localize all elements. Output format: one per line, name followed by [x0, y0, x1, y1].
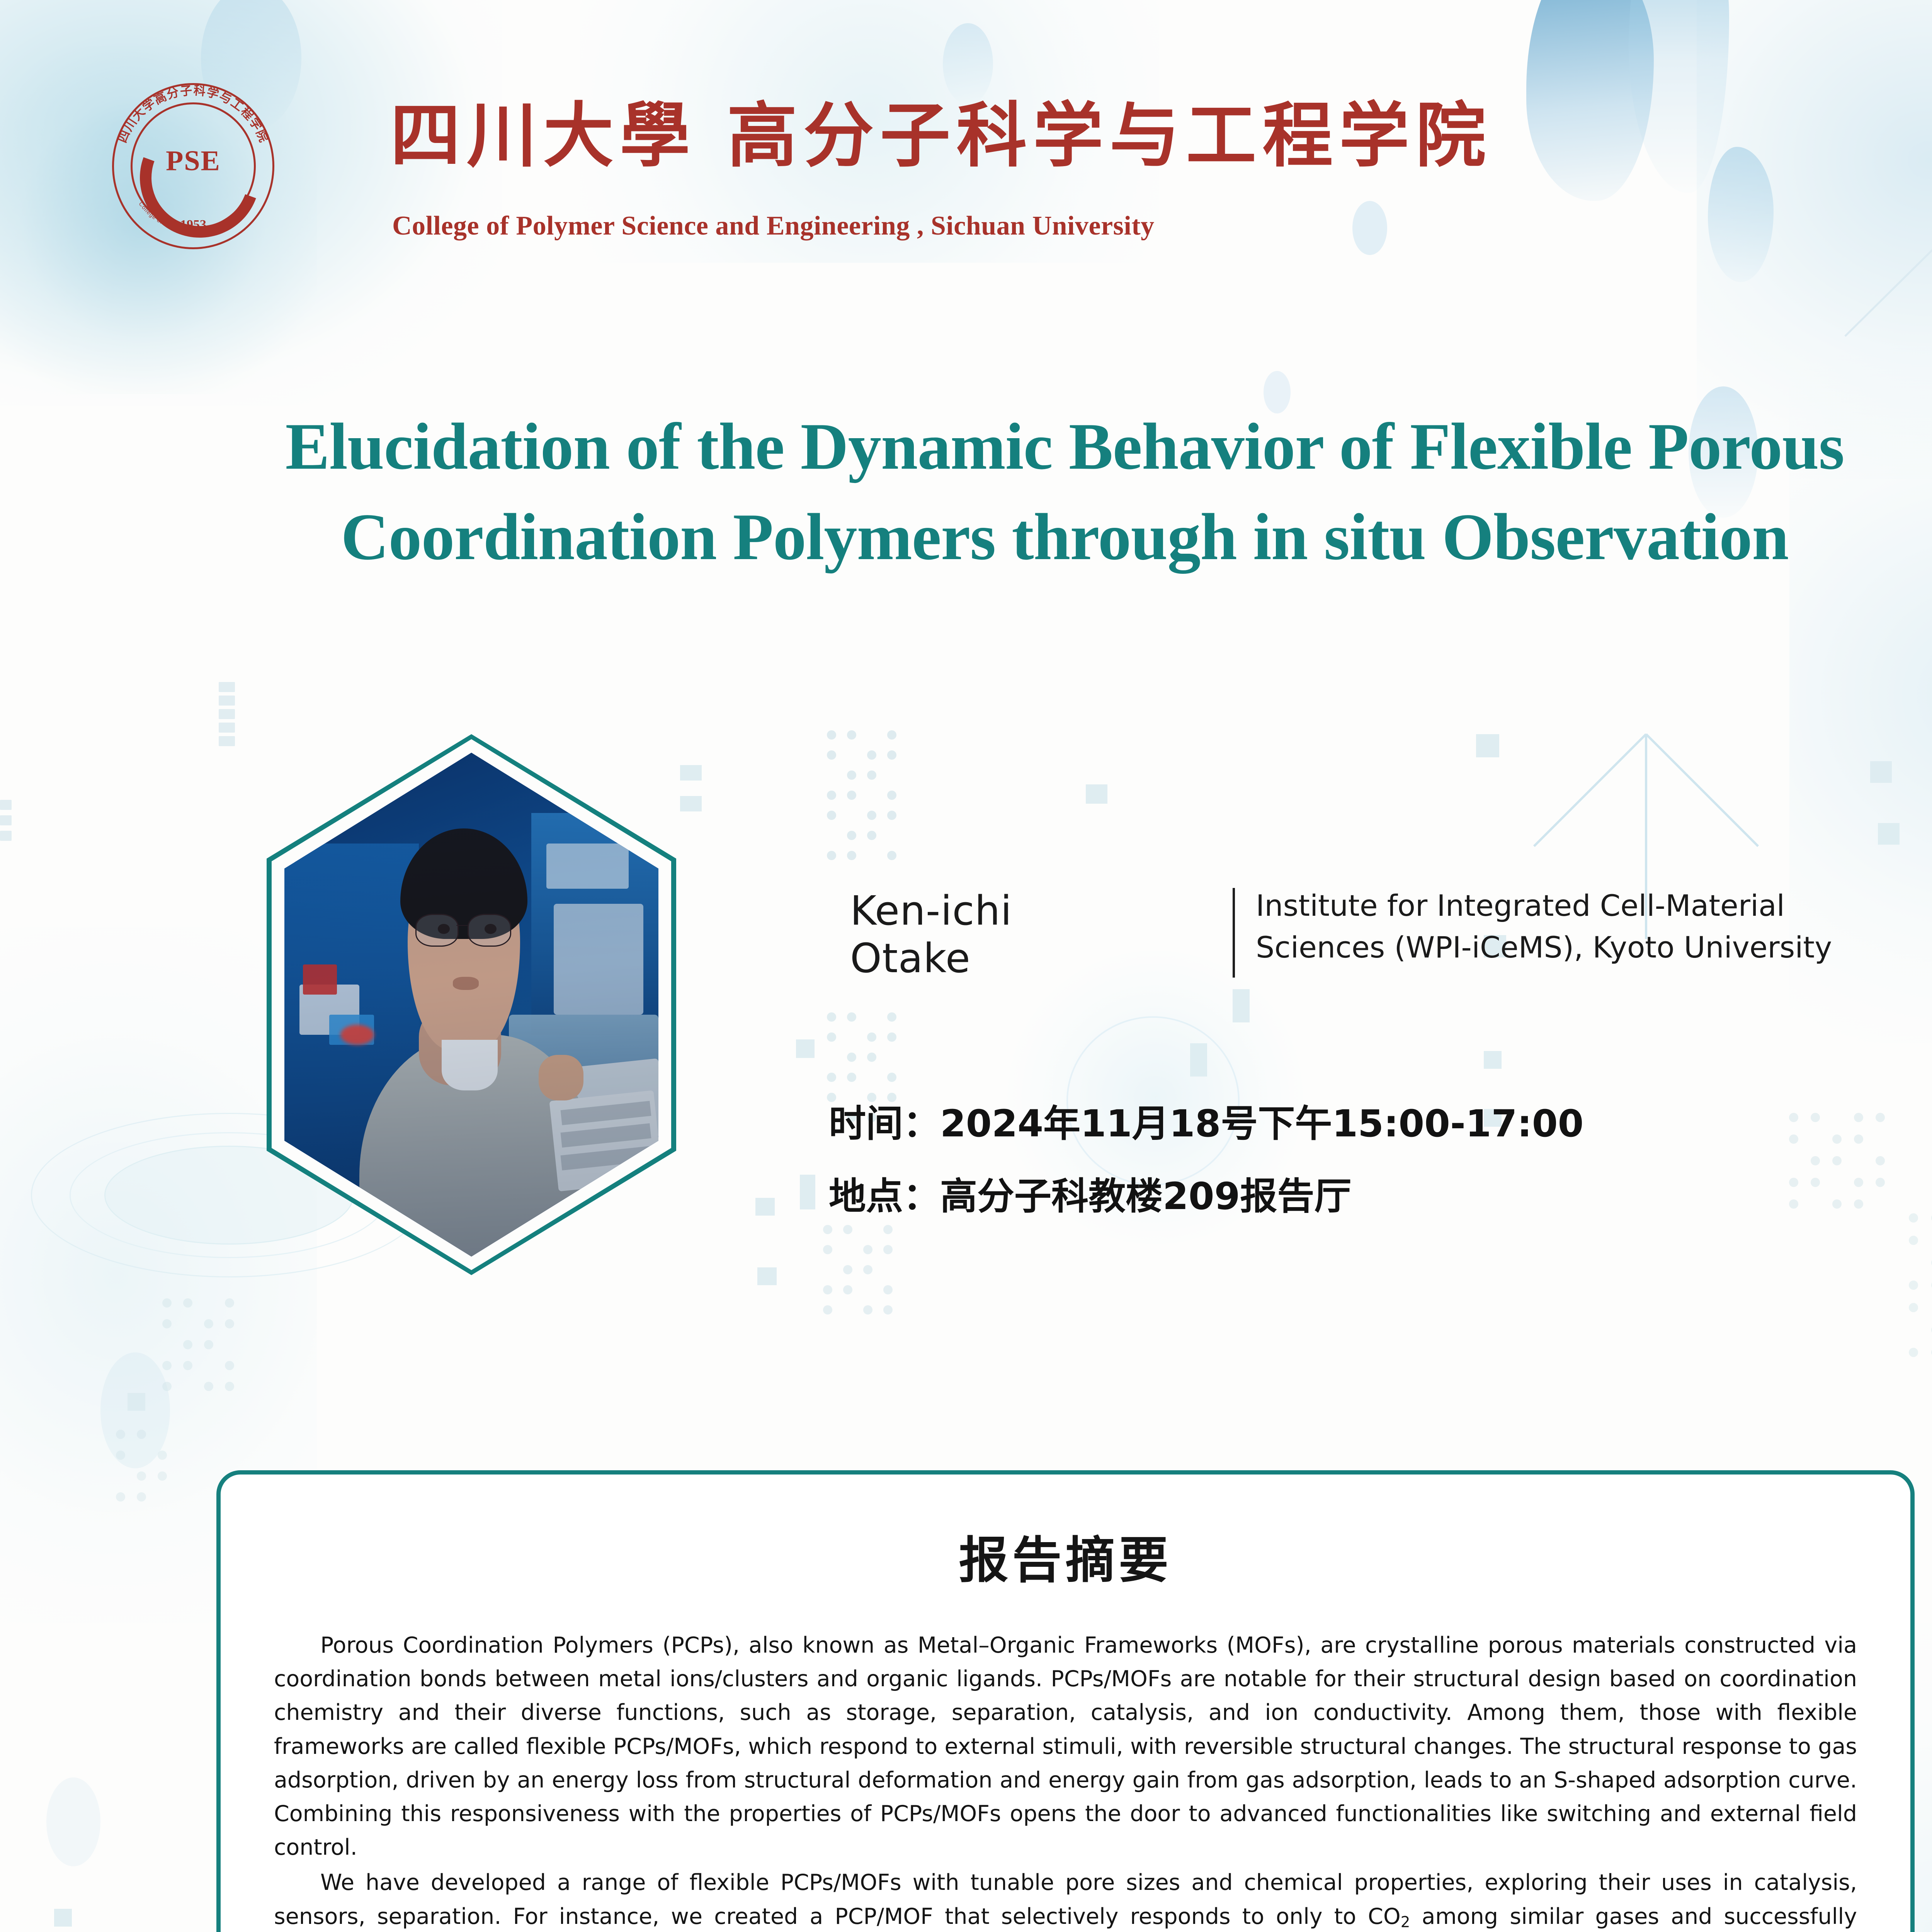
- speaker-photo-frame: [267, 734, 676, 1275]
- speaker-name-line-1: Ken-ichi: [850, 887, 1233, 935]
- seminar-poster: PSE 1953 四川大学高分子科学与工程学院 College of Polym…: [0, 0, 1932, 1932]
- event-location: 地点：高分子科教楼209报告厅: [829, 1178, 1583, 1215]
- college-name-cn: 四川大學 高分子科学与工程学院: [390, 100, 1492, 171]
- svg-text:四川大学高分子科学与工程学院: 四川大学高分子科学与工程学院: [116, 83, 271, 145]
- affiliation-line-2: Sciences (WPI-iCeMS), Kyoto University: [1256, 927, 1832, 968]
- abstract-paragraph-1: Porous Coordination Polymers (PCPs), als…: [274, 1629, 1857, 1864]
- vertical-divider: [1233, 888, 1235, 978]
- abstract-body: Porous Coordination Polymers (PCPs), als…: [221, 1629, 1910, 1932]
- event-meta: 时间：2024年11月18号下午15:00-17:00 地点：高分子科教楼209…: [829, 1105, 1583, 1215]
- speaker-info: Ken-ichi Otake Institute for Integrated …: [850, 885, 1932, 982]
- title-line-2: Coordination Polymers through in situ Ob…: [0, 492, 1932, 583]
- logo-ring-text: 四川大学高分子科学与工程学院 College of Polymer Scienc…: [107, 79, 280, 252]
- speaker-name: Ken-ichi Otake: [850, 885, 1233, 982]
- title-line-1: Elucidation of the Dynamic Behavior of F…: [0, 402, 1932, 492]
- speaker-affiliation: Institute for Integrated Cell-Material S…: [1256, 885, 1832, 968]
- watercolor-blob: [46, 1777, 100, 1866]
- abstract-paragraph-2: We have developed a range of flexible PC…: [274, 1866, 1857, 1932]
- affiliation-line-1: Institute for Integrated Cell-Material: [1256, 885, 1832, 927]
- svg-text:College of Polymer Science & E: College of Polymer Science & Engineering: [138, 201, 249, 234]
- speaker-name-line-2: Otake: [850, 935, 1233, 982]
- abstract-card: 报告摘要 Porous Coordination Polymers (PCPs)…: [216, 1470, 1915, 1932]
- abstract-heading: 报告摘要: [221, 1520, 1910, 1592]
- event-time: 时间：2024年11月18号下午15:00-17:00: [829, 1105, 1583, 1142]
- page-title: Elucidation of the Dynamic Behavior of F…: [0, 402, 1932, 583]
- watercolor-blob: [100, 1352, 170, 1468]
- poster-header: PSE 1953 四川大学高分子科学与工程学院 College of Polym…: [0, 0, 1932, 294]
- college-name-en: College of Polymer Science and Engineeri…: [392, 211, 1155, 241]
- university-logo: PSE 1953 四川大学高分子科学与工程学院 College of Polym…: [112, 83, 274, 249]
